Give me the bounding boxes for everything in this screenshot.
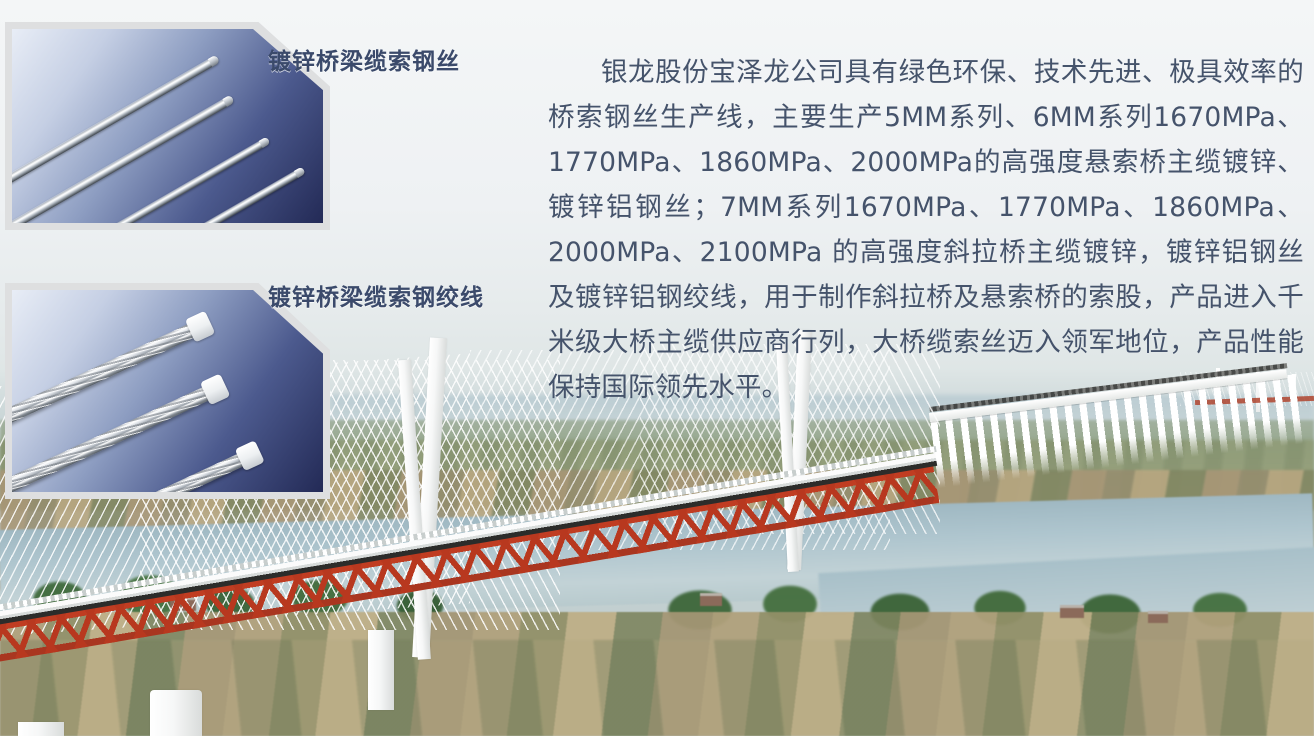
panel-title-galvanized-strand: 镀锌桥梁缆索钢绞线 bbox=[268, 278, 484, 312]
product-image-galvanized-strand bbox=[12, 290, 323, 492]
wire-end-cap bbox=[222, 95, 234, 107]
slide-root: 镀锌桥梁缆索钢丝 镀锌桥梁缆索钢绞线 银龙股份宝泽龙公司具有绿色环保、技术先进、… bbox=[0, 0, 1314, 736]
village-house bbox=[1060, 608, 1084, 618]
product-description-paragraph: 银龙股份宝泽龙公司具有绿色环保、技术先进、极具效率的桥索钢丝生产线，主要生产5M… bbox=[548, 50, 1304, 410]
strand-end-wrap bbox=[185, 311, 216, 343]
wire-end-cap bbox=[294, 167, 306, 178]
village-house bbox=[1148, 614, 1168, 623]
wire-end-cap bbox=[208, 55, 220, 67]
bridge-pier bbox=[18, 722, 64, 736]
product-panel-galvanized-strand[interactable] bbox=[5, 283, 330, 499]
strand-end-wrap bbox=[200, 373, 231, 405]
steel-strand bbox=[12, 317, 209, 432]
wire-end-cap bbox=[259, 137, 271, 148]
bridge-pier bbox=[150, 690, 202, 736]
bridge-pylon-left-base bbox=[368, 630, 394, 710]
panel-title-galvanized-wire: 镀锌桥梁缆索钢丝 bbox=[268, 42, 460, 76]
strand-end-wrap bbox=[235, 440, 265, 471]
